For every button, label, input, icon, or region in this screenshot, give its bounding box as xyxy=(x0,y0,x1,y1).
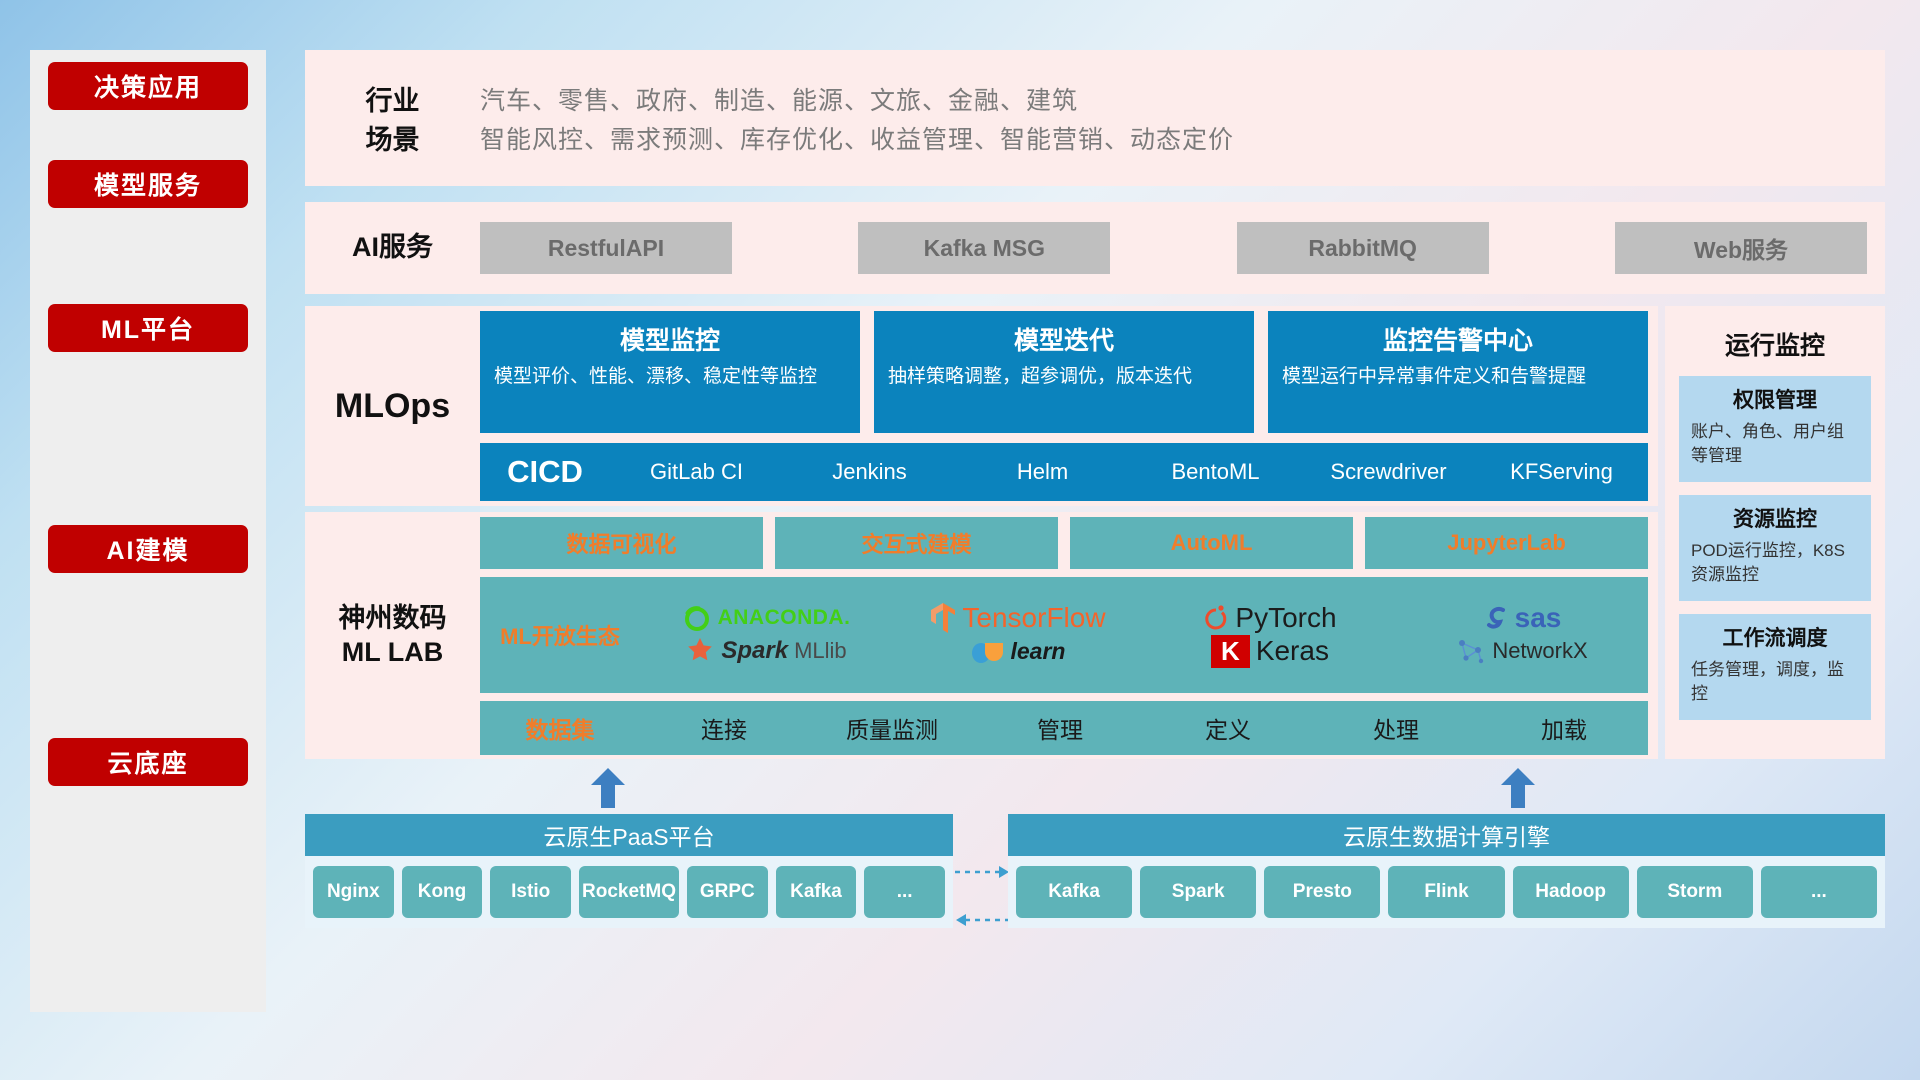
card-title: 权限管理 xyxy=(1691,384,1859,414)
ai-service-chip-web[interactable]: Web服务 xyxy=(1615,222,1867,274)
card-title: 模型监控 xyxy=(620,321,720,357)
keras-logo: K Keras xyxy=(1144,635,1396,668)
monitoring-card-permission[interactable]: 权限管理 账户、角色、用户组等管理 xyxy=(1679,376,1871,482)
scikit-blob-icon xyxy=(971,636,1005,666)
dataset-band: 数据集 连接 质量监测 管理 定义 处理 加载 xyxy=(480,701,1648,755)
mlops-label: MLOps xyxy=(305,385,480,428)
stage-label: 决策应用 xyxy=(94,68,202,104)
cicd-item-list: GitLab CI Jenkins Helm BentoML Screwdriv… xyxy=(610,459,1648,484)
ml-lab-label-line1: 神州数码 xyxy=(339,602,447,636)
networkx-logo: NetworkX xyxy=(1396,636,1648,666)
dataset-item-connect[interactable]: 连接 xyxy=(640,711,808,745)
data-engine-chip-list: Kafka Spark Presto Flink Hadoop Storm ..… xyxy=(1008,856,1885,928)
networkx-wordmark: NetworkX xyxy=(1492,638,1587,664)
stage-label: ML平台 xyxy=(101,310,195,346)
ml-lab-label-line2: ML LAB xyxy=(339,636,447,670)
monitoring-card-resource[interactable]: 资源监控 POD运行监控，K8S资源监控 xyxy=(1679,495,1871,601)
stage-item-cloud-base[interactable]: 云底座 xyxy=(48,738,248,786)
pytorch-logo: PyTorch xyxy=(1144,602,1396,634)
card-desc: 账户、角色、用户组等管理 xyxy=(1691,420,1859,468)
card-title: 模型迭代 xyxy=(1014,321,1114,357)
spark-star-icon xyxy=(685,636,715,666)
card-desc: 模型运行中异常事件定义和告警提醒 xyxy=(1282,364,1634,390)
networkx-graph-icon xyxy=(1456,636,1486,666)
cicd-item-helm[interactable]: Helm xyxy=(956,459,1129,484)
operation-monitoring-panel: 运行监控 权限管理 账户、角色、用户组等管理 资源监控 POD运行监控，K8S资… xyxy=(1665,306,1885,759)
tab-interactive-modeling[interactable]: 交互式建模 xyxy=(775,517,1058,569)
cicd-item-jenkins[interactable]: Jenkins xyxy=(783,459,956,484)
industry-row: 行业 汽车、零售、政府、制造、能源、文旅、金融、建筑 xyxy=(305,79,1885,118)
keras-mark-icon: K xyxy=(1211,635,1250,668)
card-title: 资源监控 xyxy=(1691,503,1859,533)
engine-chip-presto[interactable]: Presto xyxy=(1264,866,1380,918)
ai-service-chip-rabbitmq[interactable]: RabbitMQ xyxy=(1237,222,1489,274)
sas-logo: sas xyxy=(1396,602,1648,634)
ml-lab-tab-list: 数据可视化 交互式建模 AutoML JupyterLab xyxy=(480,517,1648,569)
mlops-card-alert-center[interactable]: 监控告警中心 模型运行中异常事件定义和告警提醒 xyxy=(1268,311,1648,433)
monitoring-title: 运行监控 xyxy=(1679,326,1871,362)
pytorch-mark-icon xyxy=(1203,603,1229,633)
mlops-card-model-monitoring[interactable]: 模型监控 模型评价、性能、漂移、稳定性等监控 xyxy=(480,311,860,433)
engine-chip-flink[interactable]: Flink xyxy=(1388,866,1504,918)
tensorflow-wordmark: TensorFlow xyxy=(962,602,1105,634)
sas-wordmark: sas xyxy=(1515,602,1562,634)
paas-chip-kafka[interactable]: Kafka xyxy=(776,866,857,918)
stage-item-decision[interactable]: 决策应用 xyxy=(48,62,248,110)
scikit-learn-logo: learn xyxy=(892,636,1144,666)
cicd-item-screwdriver[interactable]: Screwdriver xyxy=(1302,459,1475,484)
pytorch-wordmark: PyTorch xyxy=(1235,602,1336,634)
card-desc: 抽样策略调整，超参调优，版本迭代 xyxy=(888,364,1240,390)
paas-chip-rocketmq[interactable]: RocketMQ xyxy=(579,866,679,918)
dataset-item-quality[interactable]: 质量监测 xyxy=(808,711,976,745)
cicd-item-gitlab-ci[interactable]: GitLab CI xyxy=(610,459,783,484)
paas-chip-kong[interactable]: Kong xyxy=(402,866,483,918)
sas-mark-icon xyxy=(1483,604,1509,632)
ai-service-band: AI服务 RestfulAPI Kafka MSG RabbitMQ Web服务 xyxy=(305,202,1885,294)
anaconda-logo: ANACONDA. xyxy=(640,603,892,633)
stage-label: AI建模 xyxy=(106,531,189,567)
stage-item-ai-modeling[interactable]: AI建模 xyxy=(48,525,248,573)
industry-label: 行业 xyxy=(305,79,480,118)
paas-chip-istio[interactable]: Istio xyxy=(490,866,571,918)
ml-ecosystem-band: ML开放生态 ANACONDA. Ten xyxy=(480,577,1648,693)
ml-lab-band: 神州数码 ML LAB 数据可视化 交互式建模 AutoML JupyterLa… xyxy=(305,512,1658,759)
mlops-card-list: 模型监控 模型评价、性能、漂移、稳定性等监控 模型迭代 抽样策略调整，超参调优，… xyxy=(480,311,1648,433)
learn-wordmark: learn xyxy=(1011,638,1066,665)
data-engine-title: 云原生数据计算引擎 xyxy=(1008,814,1885,856)
industry-scenario-band: 行业 汽车、零售、政府、制造、能源、文旅、金融、建筑 场景 智能风控、需求预测、… xyxy=(305,50,1885,186)
paas-title: 云原生PaaS平台 xyxy=(305,814,953,856)
scenario-values: 智能风控、需求预测、库存优化、收益管理、智能营销、动态定价 xyxy=(480,120,1234,156)
tab-jupyterlab[interactable]: JupyterLab xyxy=(1365,517,1648,569)
keras-wordmark: Keras xyxy=(1256,635,1329,667)
stage-item-ml-platform[interactable]: ML平台 xyxy=(48,304,248,352)
stage-column: 决策应用 模型服务 ML平台 AI建模 云底座 xyxy=(30,50,266,1012)
card-title: 工作流调度 xyxy=(1691,622,1859,652)
ml-lab-content: 数据可视化 交互式建模 AutoML JupyterLab ML开放生态 ANA… xyxy=(480,517,1658,755)
cicd-item-bentoml[interactable]: BentoML xyxy=(1129,459,1302,484)
cloud-native-paas-block: 云原生PaaS平台 Nginx Kong Istio RocketMQ GRPC… xyxy=(305,814,953,928)
anaconda-mark-icon xyxy=(682,603,712,633)
cloud-native-data-engine-block: 云原生数据计算引擎 Kafka Spark Presto Flink Hadoo… xyxy=(1008,814,1885,928)
stage-item-model-service[interactable]: 模型服务 xyxy=(48,160,248,208)
stage-label: 模型服务 xyxy=(94,166,202,202)
dataset-item-define[interactable]: 定义 xyxy=(1144,711,1312,745)
mlops-card-model-iteration[interactable]: 模型迭代 抽样策略调整，超参调优，版本迭代 xyxy=(874,311,1254,433)
engine-chip-storm[interactable]: Storm xyxy=(1637,866,1753,918)
up-arrow-data-engine-icon xyxy=(1501,768,1535,808)
paas-chip-grpc[interactable]: GRPC xyxy=(687,866,768,918)
dataset-item-list: 连接 质量监测 管理 定义 处理 加载 xyxy=(640,711,1648,745)
card-desc: 任务管理，调度，监控 xyxy=(1691,658,1859,706)
anaconda-wordmark: ANACONDA. xyxy=(718,606,851,630)
paas-chip-nginx[interactable]: Nginx xyxy=(313,866,394,918)
tab-data-visualization[interactable]: 数据可视化 xyxy=(480,517,763,569)
paas-chip-more[interactable]: ... xyxy=(864,866,945,918)
mllib-wordmark: MLlib xyxy=(794,638,847,664)
scenario-label: 场景 xyxy=(305,118,480,157)
dataset-label: 数据集 xyxy=(480,711,640,745)
cicd-bar: CICD GitLab CI Jenkins Helm BentoML Scre… xyxy=(480,443,1648,501)
spark-wordmark: Spark xyxy=(721,637,788,665)
architecture-diagram: 行业 汽车、零售、政府、制造、能源、文旅、金融、建筑 场景 智能风控、需求预测、… xyxy=(305,50,1885,1012)
spark-mllib-logo: Spark MLlib xyxy=(640,636,892,666)
cicd-title: CICD xyxy=(480,454,610,490)
tab-automl[interactable]: AutoML xyxy=(1070,517,1353,569)
mlops-band: MLOps 模型监控 模型评价、性能、漂移、稳定性等监控 模型迭代 抽样策略调整… xyxy=(305,306,1658,506)
ml-ecosystem-logo-grid: ANACONDA. TensorFlow xyxy=(640,602,1648,668)
card-title: 监控告警中心 xyxy=(1383,321,1533,357)
ai-service-label: AI服务 xyxy=(305,231,480,265)
dataset-item-load[interactable]: 加载 xyxy=(1480,711,1648,745)
scenario-row: 场景 智能风控、需求预测、库存优化、收益管理、智能营销、动态定价 xyxy=(305,118,1885,157)
engine-chip-kafka[interactable]: Kafka xyxy=(1016,866,1132,918)
tensorflow-mark-icon xyxy=(930,602,956,634)
monitoring-card-workflow[interactable]: 工作流调度 任务管理，调度，监控 xyxy=(1679,614,1871,720)
mlops-content: 模型监控 模型评价、性能、漂移、稳定性等监控 模型迭代 抽样策略调整，超参调优，… xyxy=(480,311,1658,501)
paas-chip-list: Nginx Kong Istio RocketMQ GRPC Kafka ... xyxy=(305,856,953,928)
tensorflow-logo: TensorFlow xyxy=(892,602,1144,634)
card-desc: POD运行监控，K8S资源监控 xyxy=(1691,539,1859,587)
stage-label: 云底座 xyxy=(107,744,188,780)
engine-chip-hadoop[interactable]: Hadoop xyxy=(1513,866,1629,918)
cicd-item-kfserving[interactable]: KFServing xyxy=(1475,459,1648,484)
up-arrow-paas-icon xyxy=(591,768,625,808)
ml-lab-label: 神州数码 ML LAB xyxy=(305,602,480,670)
engine-chip-spark[interactable]: Spark xyxy=(1140,866,1256,918)
ai-service-chip-restfulapi[interactable]: RestfulAPI xyxy=(480,222,732,274)
ml-ecosystem-label: ML开放生态 xyxy=(480,619,640,651)
dataset-item-manage[interactable]: 管理 xyxy=(976,711,1144,745)
ai-service-chip-kafka-msg[interactable]: Kafka MSG xyxy=(858,222,1110,274)
dataset-item-process[interactable]: 处理 xyxy=(1312,711,1480,745)
engine-chip-more[interactable]: ... xyxy=(1761,866,1877,918)
industry-values: 汽车、零售、政府、制造、能源、文旅、金融、建筑 xyxy=(480,81,1078,117)
bidirectional-dashed-arrows-icon xyxy=(955,850,1010,940)
ai-service-chip-list: RestfulAPI Kafka MSG RabbitMQ Web服务 xyxy=(480,222,1885,274)
card-desc: 模型评价、性能、漂移、稳定性等监控 xyxy=(494,364,846,390)
